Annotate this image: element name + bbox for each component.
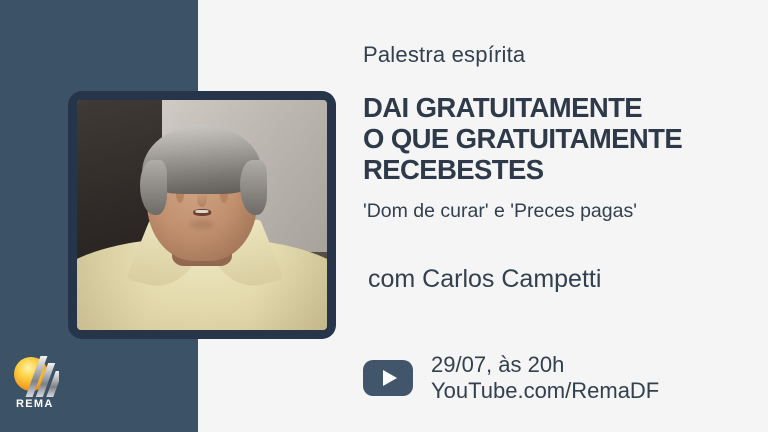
broadcast-text: 29/07, às 20h YouTube.com/RemaDF xyxy=(431,352,659,404)
headline-line-3: RECEBESTES xyxy=(363,154,682,185)
headline-line-2: O QUE GRATUITAMENTE xyxy=(363,123,682,154)
sun-with-stripes-icon xyxy=(13,355,59,397)
event-category-label: Palestra espírita xyxy=(363,42,525,68)
speaker-name: com Carlos Campetti xyxy=(368,265,601,294)
poster-content: Palestra espírita DAI GRATUITAMENTE O QU… xyxy=(363,0,768,432)
speaker-photo xyxy=(77,100,327,330)
poster-canvas: REMA Palestra espírita DAI GRATUITAMENTE… xyxy=(0,0,768,432)
broadcast-channel-link[interactable]: YouTube.com/RemaDF xyxy=(431,378,659,404)
rema-logo: REMA xyxy=(13,355,63,413)
headline-line-1: DAI GRATUITAMENTE xyxy=(363,92,682,123)
page-title: DAI GRATUITAMENTE O QUE GRATUITAMENTE RE… xyxy=(363,92,682,186)
photo-overlay xyxy=(77,100,327,330)
page-subtitle: 'Dom de curar' e 'Preces pagas' xyxy=(363,200,637,223)
broadcast-datetime: 29/07, às 20h xyxy=(431,352,659,378)
speaker-photo-frame xyxy=(68,91,336,339)
play-triangle-icon xyxy=(383,370,397,386)
youtube-play-icon[interactable] xyxy=(363,360,413,396)
broadcast-info: 29/07, às 20h YouTube.com/RemaDF xyxy=(363,352,659,404)
logo-wordmark: REMA xyxy=(13,398,63,410)
